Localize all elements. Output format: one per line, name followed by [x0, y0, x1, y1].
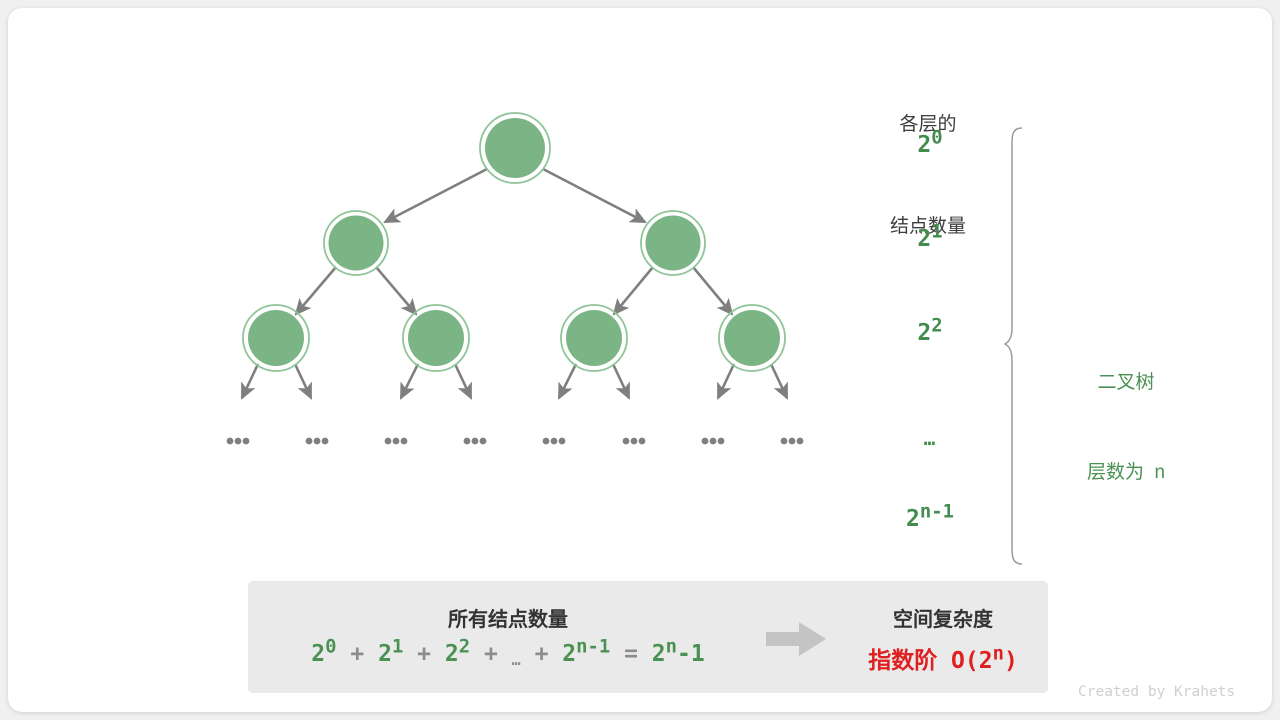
formula-plus: +: [417, 641, 431, 667]
level-count-0-exp: 0: [931, 126, 942, 148]
tree-node: [243, 305, 309, 371]
summary-left-title: 所有结点数量: [268, 603, 748, 632]
tree-nodes: [243, 113, 785, 371]
level-count-1: 21: [870, 226, 990, 252]
formula-plus: +: [350, 641, 364, 667]
formula-ellipsis: …: [512, 651, 521, 669]
tree-edges: [242, 169, 787, 398]
tree-node: [719, 305, 785, 371]
level-count-2-base: 2: [917, 320, 931, 346]
binary-tree-diagram: [8, 8, 1008, 478]
formula-plus: +: [484, 641, 498, 667]
tree-node: [324, 211, 388, 275]
level-count-1-exp: 1: [931, 220, 942, 242]
leaf-ellipsis-row: [227, 438, 804, 445]
formula-term-1: 21: [378, 641, 403, 667]
figure-card: 各层的 结点数量: [8, 8, 1272, 712]
formula-term-2: 22: [445, 641, 470, 667]
tree-node: [561, 305, 627, 371]
complexity-notation: O(2n): [951, 648, 1018, 674]
brace-note-line1: 二叉树: [1036, 368, 1216, 398]
level-count-2: 22: [870, 320, 990, 346]
summary-formula: 20 + 21 + 22 + … + 2n-1 = 2n-1: [268, 641, 748, 667]
formula-term-0: 20: [311, 641, 336, 667]
brace-note: 二叉树 层数为 n: [1036, 308, 1216, 548]
level-count-ellipsis-text: …: [924, 428, 936, 450]
level-count-ellipsis: …: [870, 428, 990, 450]
level-count-1-base: 2: [917, 226, 931, 252]
brace-note-line2: 层数为 n: [1036, 458, 1216, 488]
tree-node: [403, 305, 469, 371]
summary-box: 所有结点数量 20 + 21 + 22 + … + 2n-1 = 2n-1 空间…: [248, 581, 1048, 693]
formula-plus: +: [535, 641, 549, 667]
watermark: Created by Krahets: [1078, 684, 1235, 700]
level-count-0-base: 2: [917, 132, 931, 158]
level-count-last-exp: n-1: [920, 500, 954, 522]
formula-term-last: 2n-1: [562, 641, 610, 667]
summary-complexity-value: 指数阶 O(2n): [848, 641, 1038, 675]
level-count-2-exp: 2: [931, 314, 942, 336]
formula-result: 2n-1: [652, 641, 705, 667]
level-range-brace: [1004, 126, 1034, 566]
summary-right-title: 空间复杂度: [848, 603, 1038, 632]
complexity-label: 指数阶: [868, 647, 937, 673]
level-count-last-base: 2: [906, 506, 920, 532]
tree-node: [641, 211, 705, 275]
block-arrow-right-icon: [766, 621, 828, 657]
formula-equals: =: [624, 641, 638, 667]
level-count-last: 2n-1: [870, 506, 990, 532]
tree-node-root: [480, 113, 550, 183]
level-count-0: 20: [870, 132, 990, 158]
